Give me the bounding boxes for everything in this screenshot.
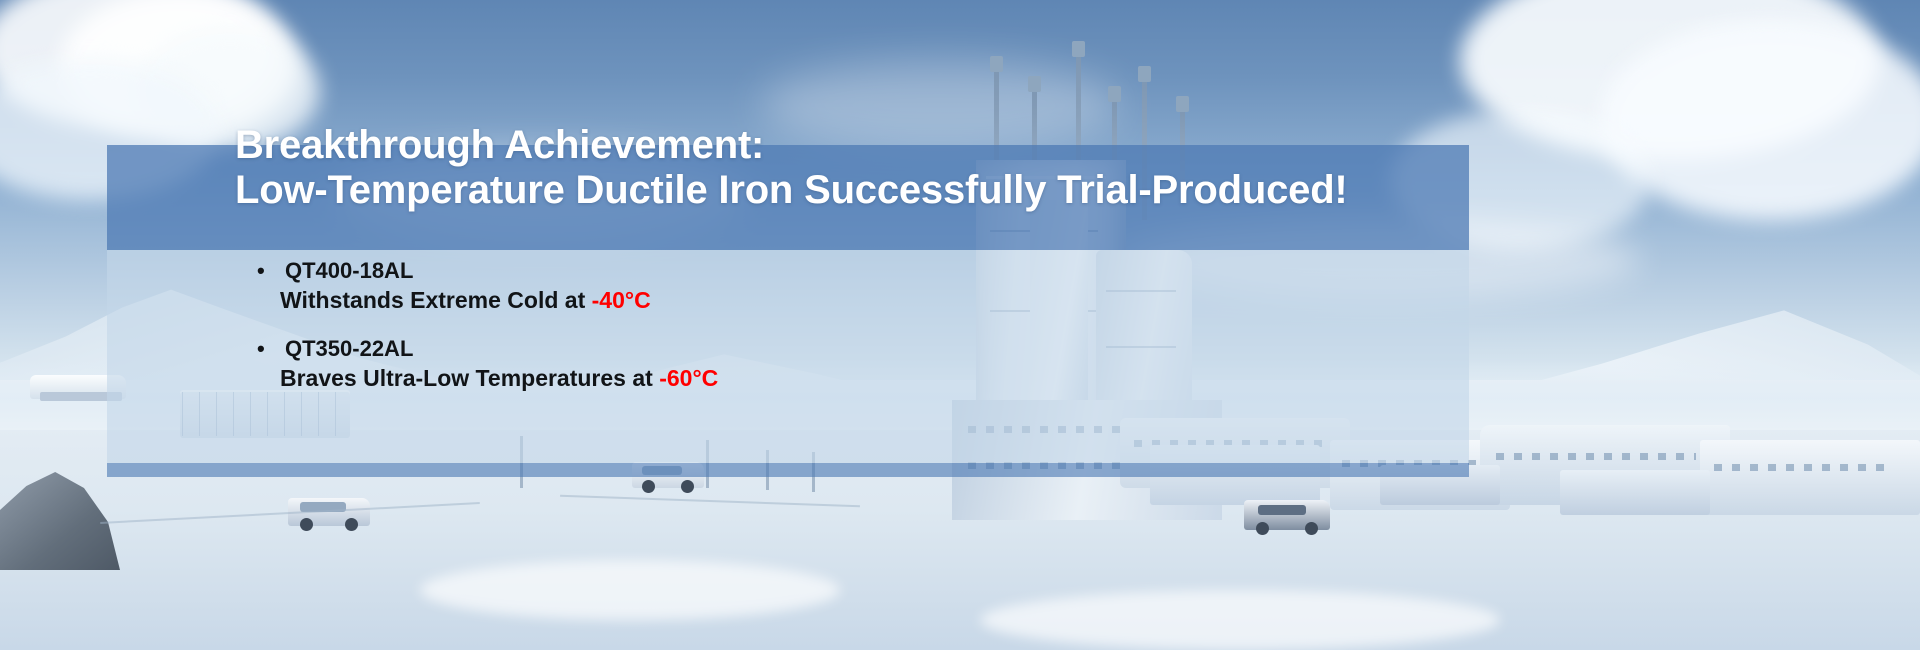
footer-band xyxy=(107,463,1469,477)
bullet-description-text: Withstands Extreme Cold at xyxy=(280,287,592,313)
bullet-grade-row: • QT400-18AL xyxy=(107,257,1469,285)
facility-building xyxy=(1700,440,1920,515)
content-overlay-panel: Breakthrough Achievement: Low-Temperatur… xyxy=(107,145,1469,477)
bullet-marker-icon: • xyxy=(257,257,265,285)
bullet-temperature-value: -60°C xyxy=(659,365,718,391)
bullet-description-text: Braves Ultra-Low Temperatures at xyxy=(280,365,659,391)
bullet-item: • QT400-18AL Withstands Extreme Cold at … xyxy=(107,257,1469,315)
headline-line-1: Breakthrough Achievement: xyxy=(107,123,1469,168)
bullet-temperature-value: -40°C xyxy=(592,287,651,313)
service-vehicle xyxy=(1244,500,1330,530)
bullet-grade-row: • QT350-22AL xyxy=(107,335,1469,363)
bullet-item: • QT350-22AL Braves Ultra-Low Temperatur… xyxy=(107,335,1469,393)
snow-drift xyxy=(420,560,840,620)
bullet-grade-label: QT350-22AL xyxy=(285,336,413,361)
headline-line-2: Low-Temperature Ductile Iron Successfull… xyxy=(107,168,1469,213)
facility-building xyxy=(1560,470,1710,515)
headline-group: Breakthrough Achievement: Low-Temperatur… xyxy=(107,123,1469,213)
bullet-list: • QT400-18AL Withstands Extreme Cold at … xyxy=(107,257,1469,413)
bullet-description-row: Withstands Extreme Cold at -40°C xyxy=(107,285,1469,315)
bullet-grade-label: QT400-18AL xyxy=(285,258,413,283)
banner-stage: Breakthrough Achievement: Low-Temperatur… xyxy=(0,0,1920,650)
snow-drift xyxy=(980,590,1500,650)
bullet-marker-icon: • xyxy=(257,335,265,363)
bullet-description-row: Braves Ultra-Low Temperatures at -60°C xyxy=(107,363,1469,393)
